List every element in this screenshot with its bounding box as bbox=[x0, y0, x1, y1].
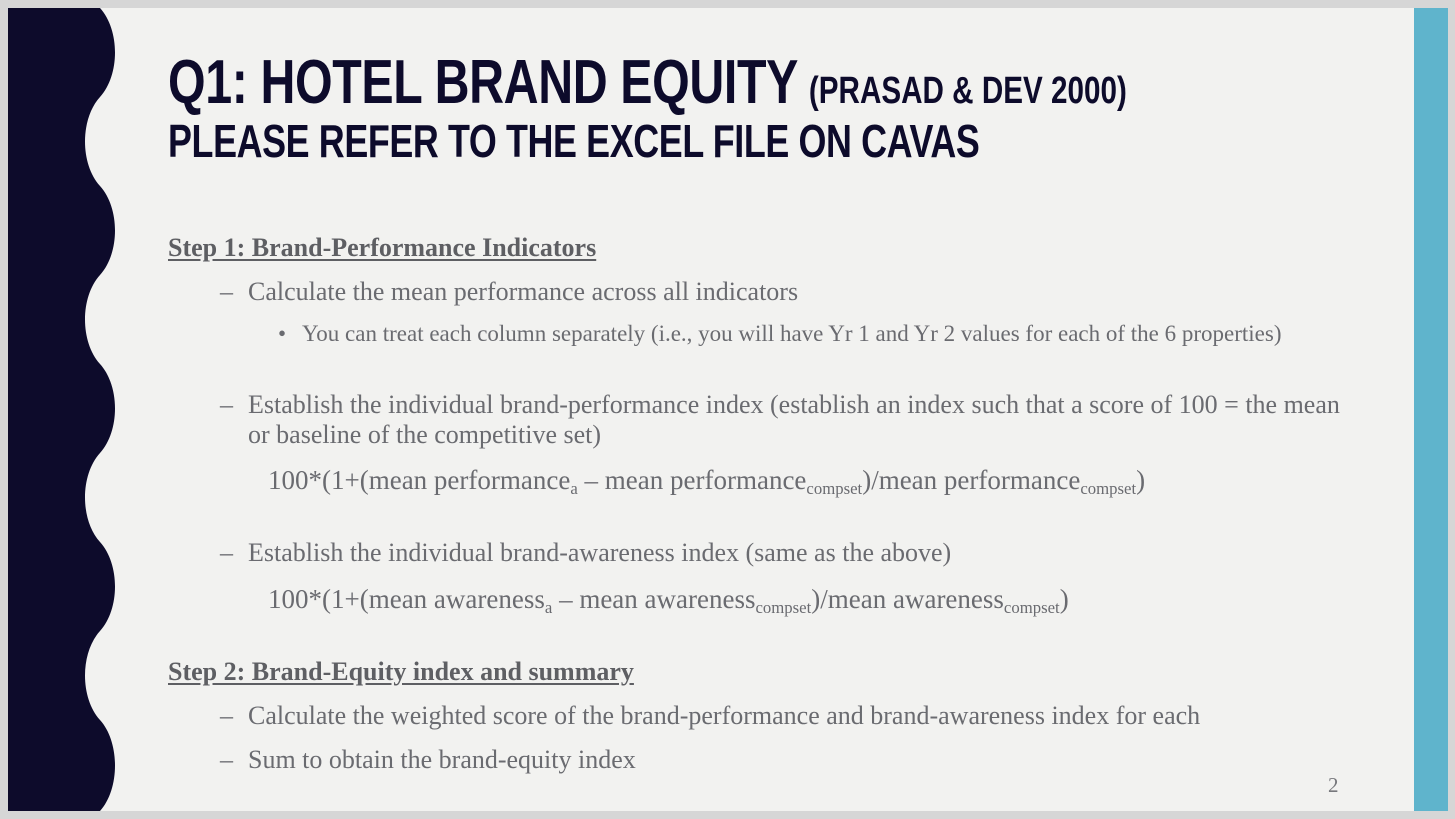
spacer bbox=[168, 731, 1358, 745]
step-2-bullet-1: – Calculate the weighted score of the br… bbox=[220, 701, 1358, 731]
left-navy-wave-panel bbox=[8, 8, 118, 811]
spacer bbox=[168, 615, 1358, 657]
formula-2-subscript-a: a bbox=[545, 598, 552, 617]
step-1-bullet-1: – Calculate the mean performance across … bbox=[220, 277, 1358, 307]
formula-1-mid-2: )/mean performance bbox=[862, 465, 1080, 495]
formula-1-subscript-compset-2: compset bbox=[1080, 479, 1136, 498]
slide-title-line-1: Q1: HOTEL BRAND EQUITY(PRASAD & DEV 2000… bbox=[168, 52, 1088, 114]
formula-1-subscript-compset-1: compset bbox=[806, 479, 862, 498]
slide-frame: Q1: HOTEL BRAND EQUITY(PRASAD & DEV 2000… bbox=[0, 0, 1455, 819]
formula-2-mid-2: )/mean awareness bbox=[811, 584, 1004, 614]
dash-bullet-marker-icon: – bbox=[220, 701, 248, 731]
slide-body: Step 1: Brand-Performance Indicators – C… bbox=[168, 233, 1358, 775]
spacer bbox=[168, 263, 1358, 277]
spacer bbox=[168, 569, 1358, 583]
formula-2-subscript-compset-2: compset bbox=[1004, 598, 1060, 617]
step-1-bullet-3-text: Establish the individual brand-awareness… bbox=[248, 538, 1358, 568]
slide-title-subtitle: PLEASE REFER TO THE EXCEL FILE ON CAVAS bbox=[168, 118, 1088, 164]
formula-2-mid-1: – mean awareness bbox=[552, 584, 755, 614]
step-2-bullet-2-text: Sum to obtain the brand-equity index bbox=[248, 745, 1358, 775]
slide-title-main: Q1: HOTEL BRAND EQUITY bbox=[168, 48, 798, 117]
slide-canvas: Q1: HOTEL BRAND EQUITY(PRASAD & DEV 2000… bbox=[8, 8, 1448, 811]
step-2-bullet-2: – Sum to obtain the brand-equity index bbox=[220, 745, 1358, 775]
step-1-bullet-2: – Establish the individual brand-perform… bbox=[220, 390, 1358, 450]
formula-1-subscript-a: a bbox=[570, 479, 577, 498]
formula-2-prefix: 100*(1+(mean awareness bbox=[268, 584, 545, 614]
step-1-bullet-3: – Establish the individual brand-awarene… bbox=[220, 538, 1358, 568]
step-1-bullet-1-text: Calculate the mean performance across al… bbox=[248, 277, 1358, 307]
spacer bbox=[168, 307, 1358, 321]
dash-bullet-marker-icon: – bbox=[220, 390, 248, 420]
step-1-bullet-1-sub-1: • You can treat each column separately (… bbox=[278, 321, 1358, 348]
dash-bullet-marker-icon: – bbox=[220, 745, 248, 775]
right-teal-accent-bar bbox=[1414, 8, 1448, 811]
slide-title-citation: (PRASAD & DEV 2000) bbox=[809, 70, 1127, 112]
brand-awareness-index-formula: 100*(1+(mean awarenessa – mean awareness… bbox=[268, 583, 1358, 615]
wave-shape-icon bbox=[8, 8, 118, 811]
brand-performance-index-formula: 100*(1+(mean performancea – mean perform… bbox=[268, 464, 1358, 496]
formula-1-suffix: ) bbox=[1136, 465, 1145, 495]
step-1-bullet-1-sub-1-text: You can treat each column separately (i.… bbox=[302, 321, 1358, 348]
page-number: 2 bbox=[1328, 773, 1339, 798]
dash-bullet-marker-icon: – bbox=[220, 538, 248, 568]
title-block: Q1: HOTEL BRAND EQUITY(PRASAD & DEV 2000… bbox=[168, 52, 1348, 164]
dash-bullet-marker-icon: – bbox=[220, 277, 248, 307]
step-1-heading: Step 1: Brand-Performance Indicators bbox=[168, 233, 1358, 263]
step-2-bullet-1-text: Calculate the weighted score of the bran… bbox=[248, 701, 1358, 731]
formula-1-mid-1: – mean performance bbox=[578, 465, 807, 495]
step-1-bullet-2-text: Establish the individual brand-performan… bbox=[248, 390, 1358, 450]
spacer bbox=[168, 496, 1358, 538]
formula-2-subscript-compset-1: compset bbox=[755, 598, 811, 617]
spacer bbox=[168, 348, 1358, 390]
step-2-heading: Step 2: Brand-Equity index and summary bbox=[168, 657, 1358, 687]
spacer bbox=[168, 687, 1358, 701]
formula-1-prefix: 100*(1+(mean performance bbox=[268, 465, 570, 495]
spacer bbox=[168, 450, 1358, 464]
formula-2-suffix: ) bbox=[1060, 584, 1069, 614]
round-bullet-marker-icon: • bbox=[278, 321, 302, 348]
